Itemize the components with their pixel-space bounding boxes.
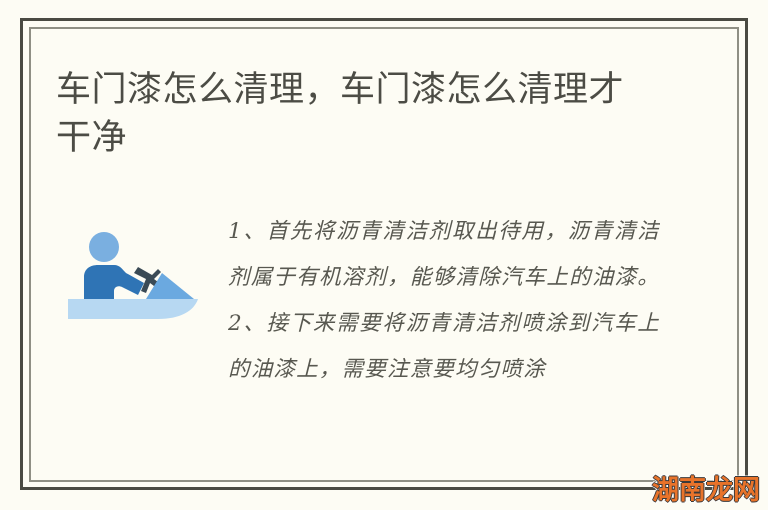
article-content: 1、首先将沥青清洁剂取出待用，沥青清洁剂属于有机溶剂，能够清除汽车上的油漆。 2… (0, 205, 768, 467)
page-title: 车门漆怎么清理，车门漆怎么清理才干净 (56, 66, 656, 162)
article-body: 1、首先将沥青清洁剂取出待用，沥青清洁剂属于有机溶剂，能够清除汽车上的油漆。 2… (228, 209, 660, 459)
watermark-text: 湖南龙网 (652, 475, 760, 506)
site-watermark: 湖南龙网 (652, 477, 760, 504)
article-page: 车门漆怎么清理，车门漆怎么清理才干净 1、首先将沥青清洁剂取出待用，沥青清洁剂属… (0, 0, 768, 510)
driver-steering-wheel-icon (62, 225, 200, 325)
